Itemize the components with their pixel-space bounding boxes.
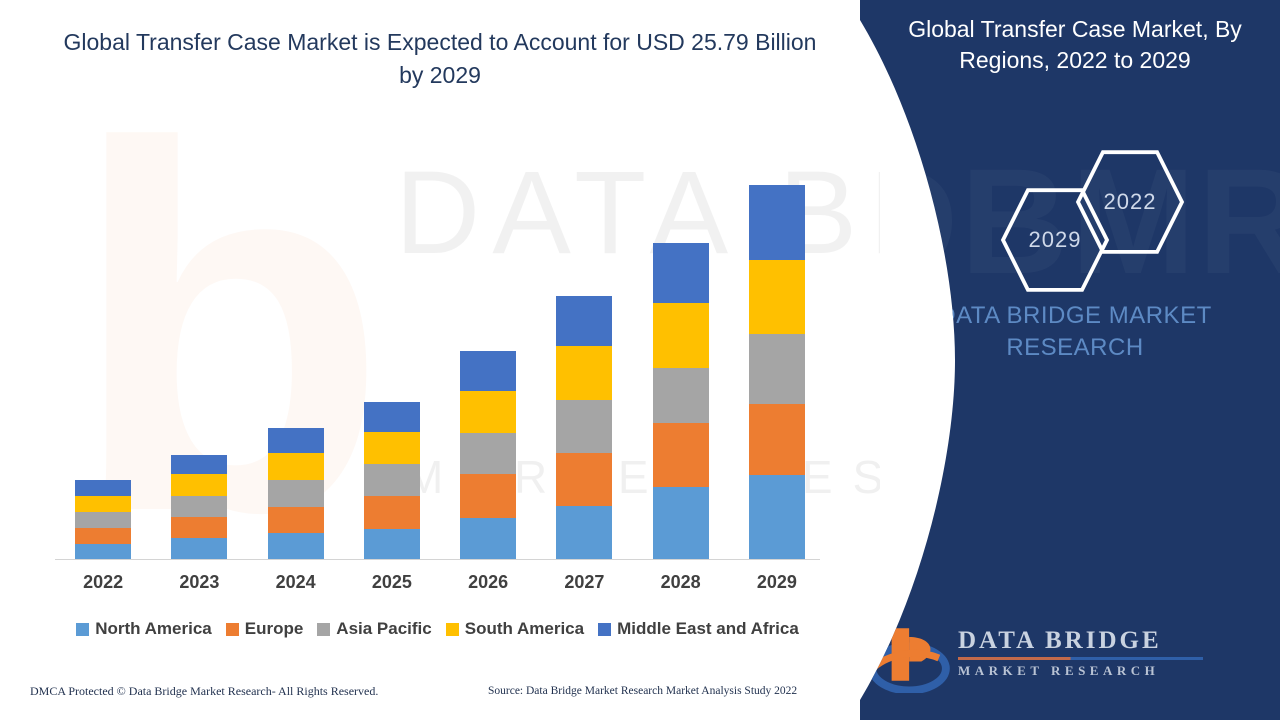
bar-segment[interactable]	[749, 260, 805, 334]
hexagon-2029: 2029	[1000, 188, 1110, 292]
bar-segment[interactable]	[653, 423, 709, 487]
dbmr-logo-text: DATA BRIDGE MARKET RESEARCH	[958, 627, 1258, 679]
x-axis-label-2022: 2022	[58, 572, 148, 593]
bar-segment[interactable]	[749, 334, 805, 404]
footer: DMCA Protected © Data Bridge Market Rese…	[0, 684, 860, 710]
legend-swatch-icon	[226, 623, 239, 636]
legend-swatch-icon	[317, 623, 330, 636]
dbmr-logo-title: DATA BRIDGE	[958, 627, 1258, 655]
legend-item[interactable]: Middle East and Africa	[598, 619, 799, 639]
bar-segment[interactable]	[749, 185, 805, 260]
source-text: Source: Data Bridge Market Research Mark…	[488, 685, 797, 697]
legend-label: Europe	[245, 619, 304, 639]
bar-segment[interactable]	[171, 538, 227, 560]
panel-brand-line1: DATA BRIDGE MARKET	[880, 300, 1270, 332]
panel-brand-text: DATA BRIDGE MARKET RESEARCH	[880, 300, 1270, 365]
bar-segment[interactable]	[364, 529, 420, 560]
chart-legend: North AmericaEuropeAsia PacificSouth Ame…	[55, 616, 820, 642]
bar-segment[interactable]	[171, 517, 227, 538]
page-title: Global Transfer Case Market is Expected …	[60, 26, 820, 91]
bar-segment[interactable]	[749, 404, 805, 475]
legend-item[interactable]: North America	[76, 619, 212, 639]
bar-segment[interactable]	[75, 544, 131, 560]
bar-column-2025[interactable]	[364, 402, 420, 560]
bar-segment[interactable]	[460, 474, 516, 518]
bar-column-2026[interactable]	[460, 351, 516, 560]
x-axis-label-2026: 2026	[443, 572, 533, 593]
bar-segment[interactable]	[460, 351, 516, 391]
bar-segment[interactable]	[171, 496, 227, 517]
bar-segment[interactable]	[75, 480, 131, 496]
bar-column-2022[interactable]	[75, 480, 131, 560]
bar-segment[interactable]	[75, 512, 131, 528]
x-axis-line	[55, 559, 820, 560]
dbmr-logo: DATA BRIDGE MARKET RESEARCH	[870, 615, 1270, 705]
bar-segment[interactable]	[556, 506, 612, 560]
x-axis-label-2024: 2024	[251, 572, 341, 593]
x-axis-labels: 20222023202420252026202720282029	[55, 572, 825, 600]
x-axis-label-2029: 2029	[732, 572, 822, 593]
legend-swatch-icon	[446, 623, 459, 636]
bar-segment[interactable]	[75, 528, 131, 544]
bar-column-2024[interactable]	[268, 428, 324, 560]
dbmr-logo-rule	[958, 657, 1203, 660]
legend-label: Asia Pacific	[336, 619, 431, 639]
hexagon-group: 2022 2029	[965, 150, 1265, 290]
legend-swatch-icon	[598, 623, 611, 636]
legend-swatch-icon	[76, 623, 89, 636]
bar-column-2023[interactable]	[171, 455, 227, 560]
bar-segment[interactable]	[364, 464, 420, 496]
bar-column-2027[interactable]	[556, 296, 612, 560]
bar-segment[interactable]	[460, 391, 516, 433]
right-brand-panel: DBMR Global Transfer Case Market, By Reg…	[860, 0, 1280, 720]
x-axis-label-2025: 2025	[347, 572, 437, 593]
bar-segment[interactable]	[268, 480, 324, 507]
bar-segment[interactable]	[653, 243, 709, 303]
legend-item[interactable]: South America	[446, 619, 584, 639]
bar-segment[interactable]	[171, 474, 227, 496]
dbmr-logo-icon	[870, 623, 950, 693]
bar-segment[interactable]	[556, 400, 612, 453]
bar-segment[interactable]	[749, 475, 805, 560]
legend-item[interactable]: Asia Pacific	[317, 619, 431, 639]
bar-segment[interactable]	[75, 496, 131, 512]
bar-segment[interactable]	[653, 487, 709, 560]
panel-title: Global Transfer Case Market, By Regions,…	[890, 14, 1260, 76]
bar-segment[interactable]	[268, 428, 324, 453]
bar-segment[interactable]	[556, 346, 612, 400]
copyright-text: DMCA Protected © Data Bridge Market Rese…	[30, 684, 378, 699]
bar-column-2029[interactable]	[749, 185, 805, 560]
bar-segment[interactable]	[364, 496, 420, 529]
hexagon-2029-label: 2029	[1000, 227, 1110, 253]
legend-label: Middle East and Africa	[617, 619, 799, 639]
bar-segment[interactable]	[364, 432, 420, 464]
legend-item[interactable]: Europe	[226, 619, 304, 639]
bar-segment[interactable]	[653, 303, 709, 368]
bar-segment[interactable]	[268, 453, 324, 480]
bar-segment[interactable]	[171, 455, 227, 475]
dbmr-logo-subtitle: MARKET RESEARCH	[958, 663, 1258, 679]
bar-segment[interactable]	[460, 433, 516, 474]
bar-segment[interactable]	[460, 518, 516, 560]
bar-segment[interactable]	[364, 402, 420, 432]
legend-label: South America	[465, 619, 584, 639]
bar-column-2028[interactable]	[653, 243, 709, 560]
panel-brand-line2: RESEARCH	[880, 332, 1270, 364]
x-axis-label-2028: 2028	[636, 572, 726, 593]
infographic-page: b DATA BRIDGE MARKET RESEARCH Global Tra…	[0, 0, 1280, 720]
x-axis-label-2023: 2023	[154, 572, 244, 593]
stacked-bar-chart	[55, 175, 825, 560]
x-axis-label-2027: 2027	[539, 572, 629, 593]
bar-segment[interactable]	[268, 533, 324, 560]
legend-label: North America	[95, 619, 212, 639]
bar-segment[interactable]	[268, 507, 324, 533]
bar-segment[interactable]	[556, 453, 612, 506]
bar-segment[interactable]	[556, 296, 612, 346]
bar-segment[interactable]	[653, 368, 709, 423]
